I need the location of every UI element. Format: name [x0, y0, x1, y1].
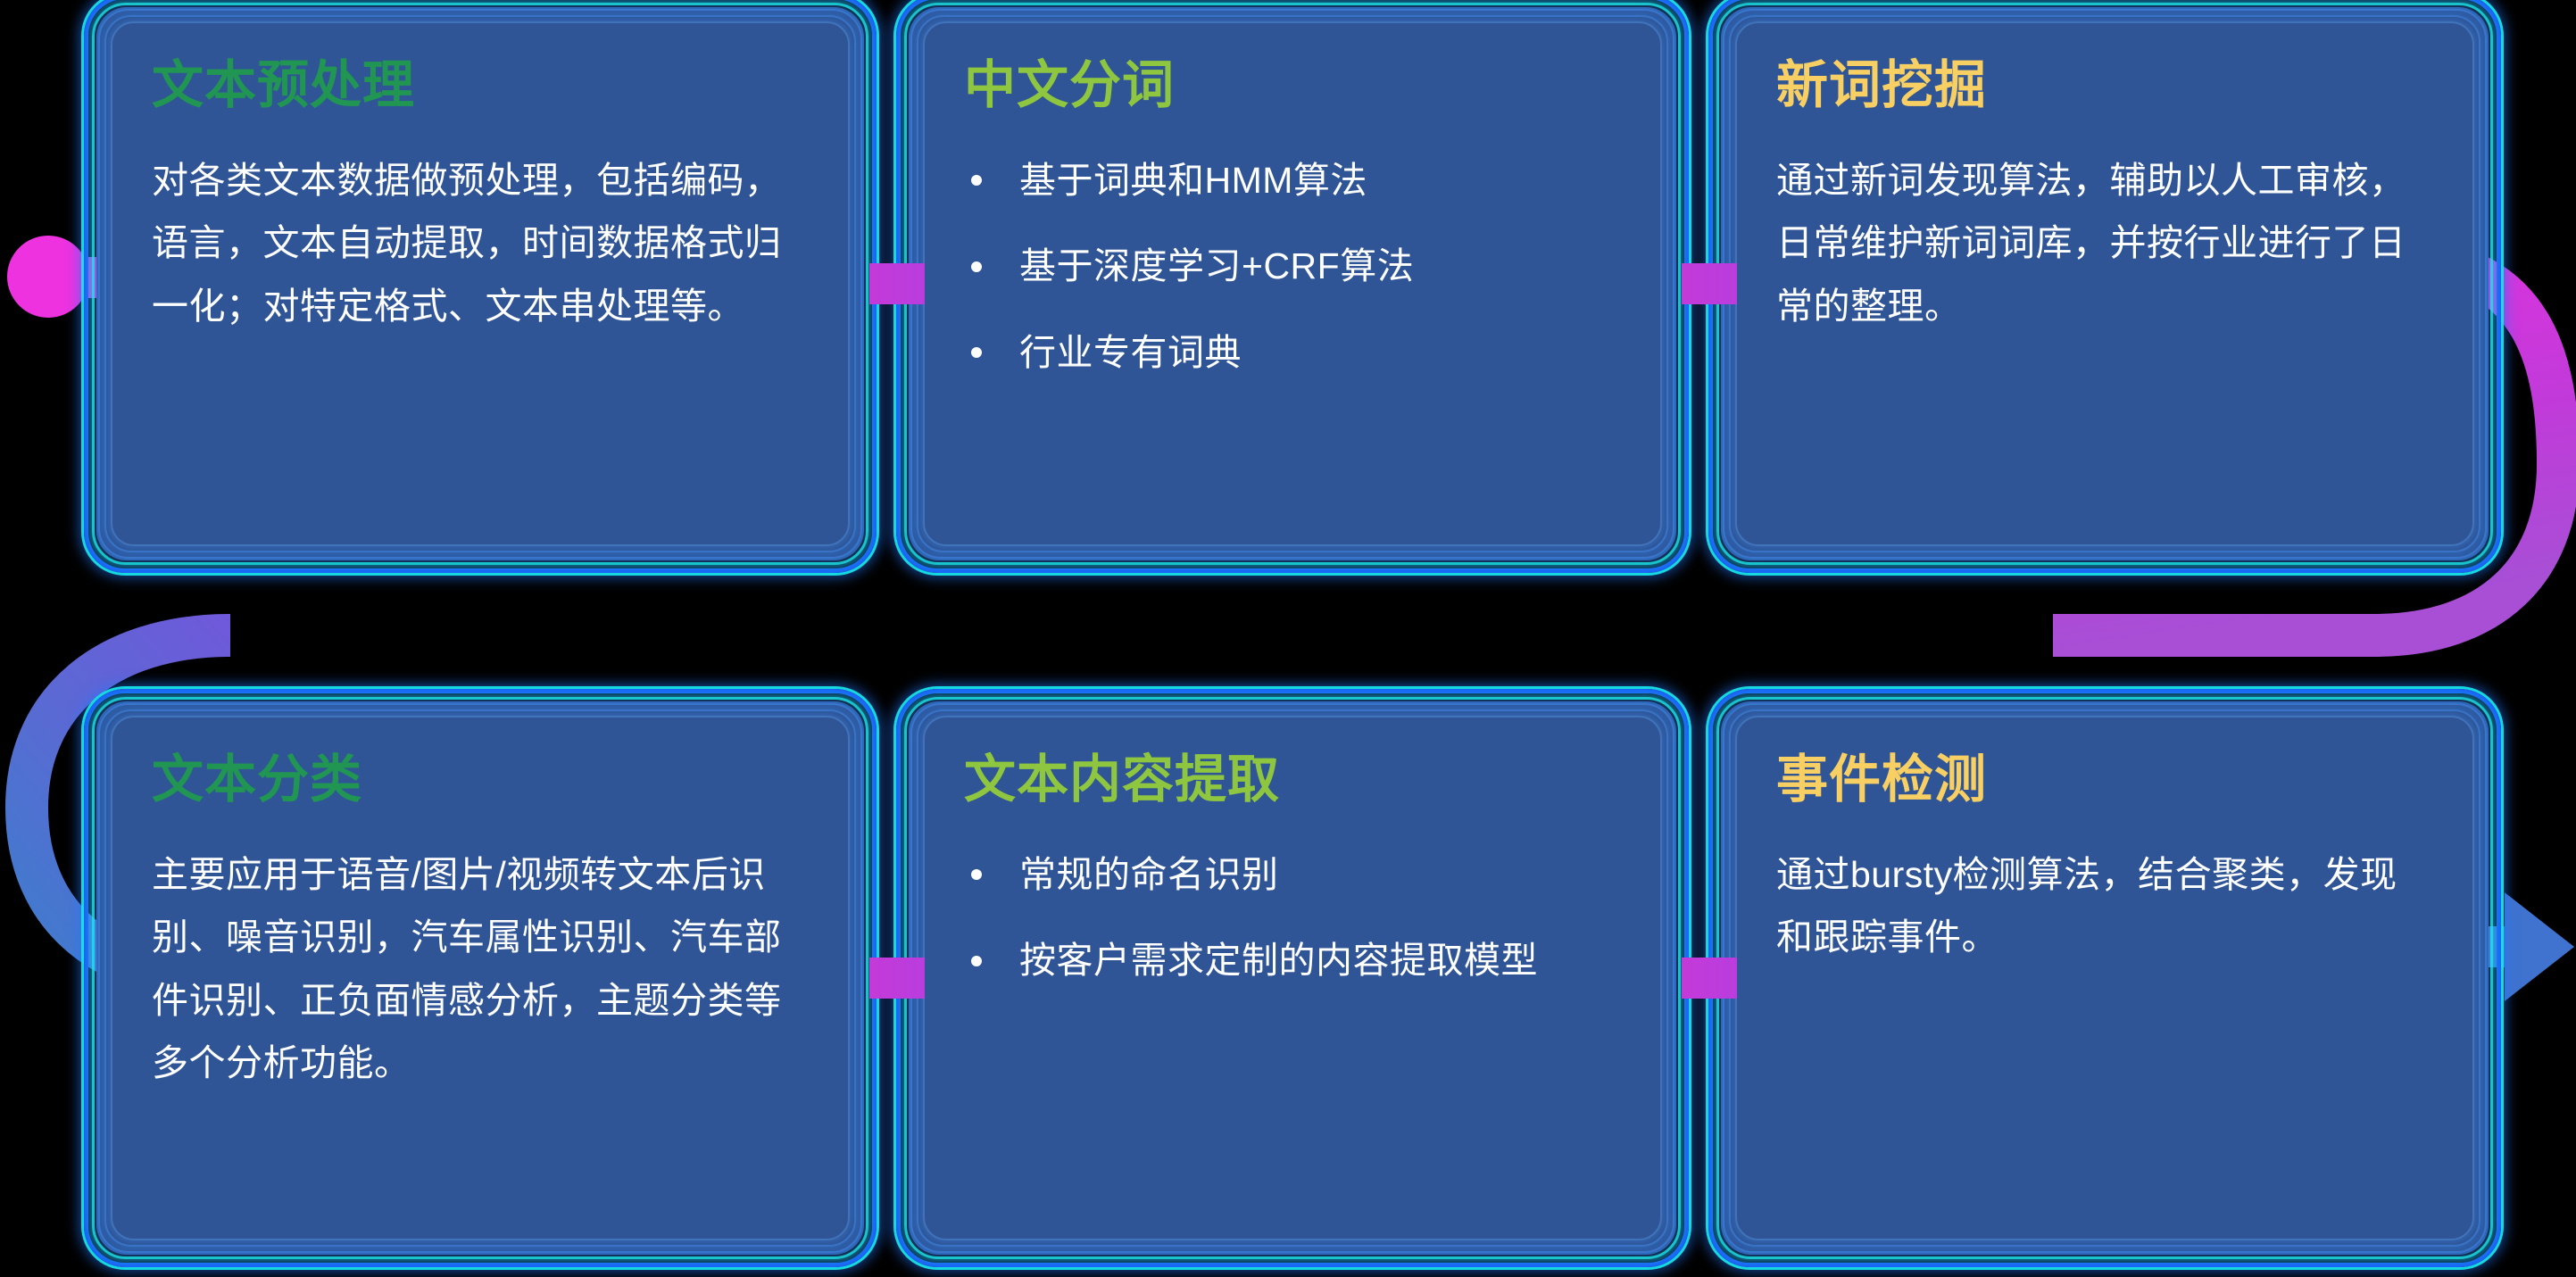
- bullet-dot-icon: [971, 261, 982, 272]
- list-item-label: 常规的命名识别: [1019, 854, 1279, 895]
- list-item: 基于深度学习+CRF算法: [964, 235, 1621, 298]
- connector-chip: [1682, 958, 1737, 999]
- card-text-classification[interactable]: 文本分类 主要应用于语音/图片/视频转文本后识别、噪音识别，汽车属性识别、汽车部…: [96, 701, 864, 1255]
- card-text-content-extraction[interactable]: 文本内容提取 常规的命名识别 按客户需求定制的内容提取模型: [909, 701, 1676, 1255]
- card-body-text: 通过新词发现算法，辅助以人工审核，日常维护新词词库，并按行业进行了日常的整理。: [1776, 149, 2433, 338]
- card-title: 新词挖掘: [1776, 59, 2433, 113]
- diagram-stage: 文本预处理 对各类文本数据做预处理，包括编码，语言，文本自动提取，时间数据格式归…: [0, 0, 2576, 1277]
- bullet-dot-icon: [971, 347, 982, 358]
- bottom-row: 文本分类 主要应用于语音/图片/视频转文本后识别、噪音识别，汽车属性识别、汽车部…: [96, 701, 2489, 1255]
- card-title: 文本分类: [152, 753, 809, 808]
- list-item-label: 基于深度学习+CRF算法: [1019, 245, 1414, 286]
- card-body-text: 对各类文本数据做预处理，包括编码，语言，文本自动提取，时间数据格式归一化；对特定…: [152, 149, 809, 338]
- card-text-preprocessing[interactable]: 文本预处理 对各类文本数据做预处理，包括编码，语言，文本自动提取，时间数据格式归…: [96, 7, 864, 560]
- card-title: 文本内容提取: [964, 753, 1621, 808]
- start-dot: [7, 236, 89, 318]
- bullet-dot-icon: [971, 175, 982, 186]
- connector-chip: [869, 263, 925, 304]
- card-bullet-list: 常规的命名识别 按客户需求定制的内容提取模型: [964, 843, 1621, 992]
- connector-chip: [869, 958, 925, 999]
- card-grid: 文本预处理 对各类文本数据做预处理，包括编码，语言，文本自动提取，时间数据格式归…: [96, 0, 2489, 1277]
- list-item: 行业专有词典: [964, 321, 1621, 385]
- list-item: 基于词典和HMM算法: [964, 149, 1621, 212]
- top-row: 文本预处理 对各类文本数据做预处理，包括编码，语言，文本自动提取，时间数据格式归…: [96, 7, 2489, 560]
- card-chinese-word-segmentation[interactable]: 中文分词 基于词典和HMM算法 基于深度学习+CRF算法 行业专有词典: [909, 7, 1676, 560]
- list-item: 按客户需求定制的内容提取模型: [964, 929, 1621, 992]
- card-bullet-list: 基于词典和HMM算法 基于深度学习+CRF算法 行业专有词典: [964, 149, 1621, 385]
- list-item-label: 基于词典和HMM算法: [1019, 160, 1367, 201]
- list-item-label: 按客户需求定制的内容提取模型: [1019, 940, 1538, 981]
- list-item-label: 行业专有词典: [1019, 332, 1242, 373]
- card-event-detection[interactable]: 事件检测 通过bursty检测算法，结合聚类，发现和跟踪事件。: [1721, 701, 2489, 1255]
- list-item: 常规的命名识别: [964, 843, 1621, 907]
- card-body-text: 主要应用于语音/图片/视频转文本后识别、噪音识别，汽车属性识别、汽车部件识别、正…: [152, 843, 809, 1095]
- card-title: 事件检测: [1776, 753, 2433, 808]
- card-title: 文本预处理: [152, 59, 809, 113]
- bullet-dot-icon: [971, 956, 982, 966]
- card-body-text: 通过bursty检测算法，结合聚类，发现和跟踪事件。: [1776, 843, 2433, 969]
- connector-chip: [1682, 263, 1737, 304]
- card-new-word-discovery[interactable]: 新词挖掘 通过新词发现算法，辅助以人工审核，日常维护新词词库，并按行业进行了日常…: [1721, 7, 2489, 560]
- card-title: 中文分词: [964, 59, 1621, 113]
- bullet-dot-icon: [971, 869, 982, 880]
